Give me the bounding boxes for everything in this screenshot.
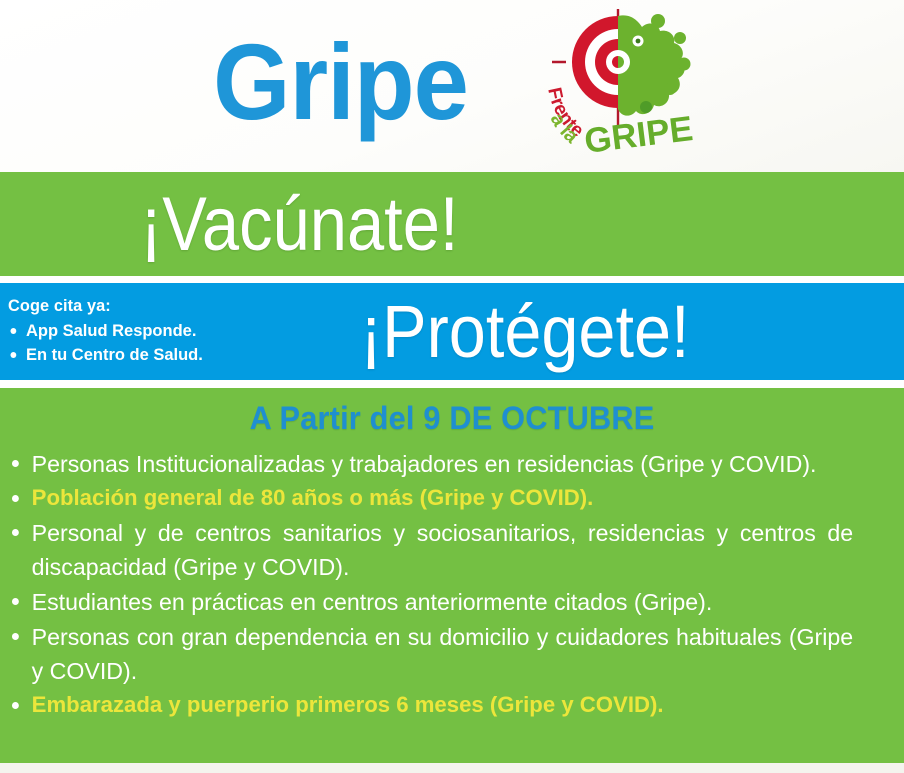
eligible-group-label: Estudiantes en prácticas en centros ante… [32, 589, 713, 615]
bullet-icon [12, 460, 19, 467]
svg-text:a la: a la [545, 110, 582, 149]
eligible-group-label: Personas Institucionalizadas y trabajado… [32, 451, 817, 477]
header-content: Gripe [202, 7, 701, 157]
list-item: Personal y de centros sanitarios y socio… [10, 516, 853, 584]
eligible-groups-list: Personas Institucionalizadas y trabajado… [0, 447, 904, 722]
vaccinate-slogan: ¡Vacúnate! [140, 181, 459, 268]
list-item: Embarazada y puerperio primeros 6 meses … [10, 689, 853, 722]
eligible-group-label: Población general de 80 años o más (Grip… [32, 485, 594, 510]
bullet-icon [12, 495, 19, 502]
appointment-title: Coge cita ya: [8, 296, 325, 316]
poster-header: Gripe [0, 0, 904, 172]
footer-strip [0, 763, 904, 773]
appointment-block: Coge cita ya: App Salud Responde. En tu … [8, 296, 338, 367]
bullet-icon [12, 598, 19, 605]
appointment-banner: Coge cita ya: App Salud Responde. En tu … [0, 283, 904, 380]
bullet-icon [10, 352, 16, 358]
start-date-heading: A Partir del 9 DE OCTUBRE [18, 388, 886, 437]
eligible-group-label: Personas con gran dependencia en su domi… [32, 624, 853, 684]
bullet-icon [12, 702, 19, 709]
appointment-channel-list: App Salud Responde. En tu Centro de Salu… [8, 319, 338, 367]
appointment-channel-label: App Salud Responde. [26, 321, 196, 340]
vaccination-poster: Gripe [0, 0, 904, 773]
bullet-icon [10, 328, 16, 334]
list-item: App Salud Responde. [26, 319, 329, 343]
svg-text:GRIPE: GRIPE [582, 109, 695, 157]
list-item: Personas con gran dependencia en su domi… [10, 620, 853, 688]
list-item: Estudiantes en prácticas en centros ante… [10, 585, 853, 619]
protect-slogan: ¡Protégete! [360, 289, 689, 374]
page-title: Gripe [214, 31, 469, 134]
list-item: Población general de 80 años o más (Grip… [10, 482, 853, 515]
eligible-group-label: Personal y de centros sanitarios y socio… [32, 520, 853, 580]
eligible-group-label: Embarazada y puerperio primeros 6 meses … [32, 692, 664, 717]
frente-a-la-gripe-logo: Frente a la GRIPE [534, 7, 702, 157]
bullet-icon [12, 529, 19, 536]
eligibility-panel: A Partir del 9 DE OCTUBRE Personas Insti… [0, 388, 904, 763]
list-item: Personas Institucionalizadas y trabajado… [10, 447, 853, 481]
bullet-icon [12, 633, 19, 640]
appointment-channel-label: En tu Centro de Salud. [26, 345, 203, 364]
vaccinate-banner: ¡Vacúnate! [0, 172, 904, 276]
list-item: En tu Centro de Salud. [26, 343, 329, 367]
